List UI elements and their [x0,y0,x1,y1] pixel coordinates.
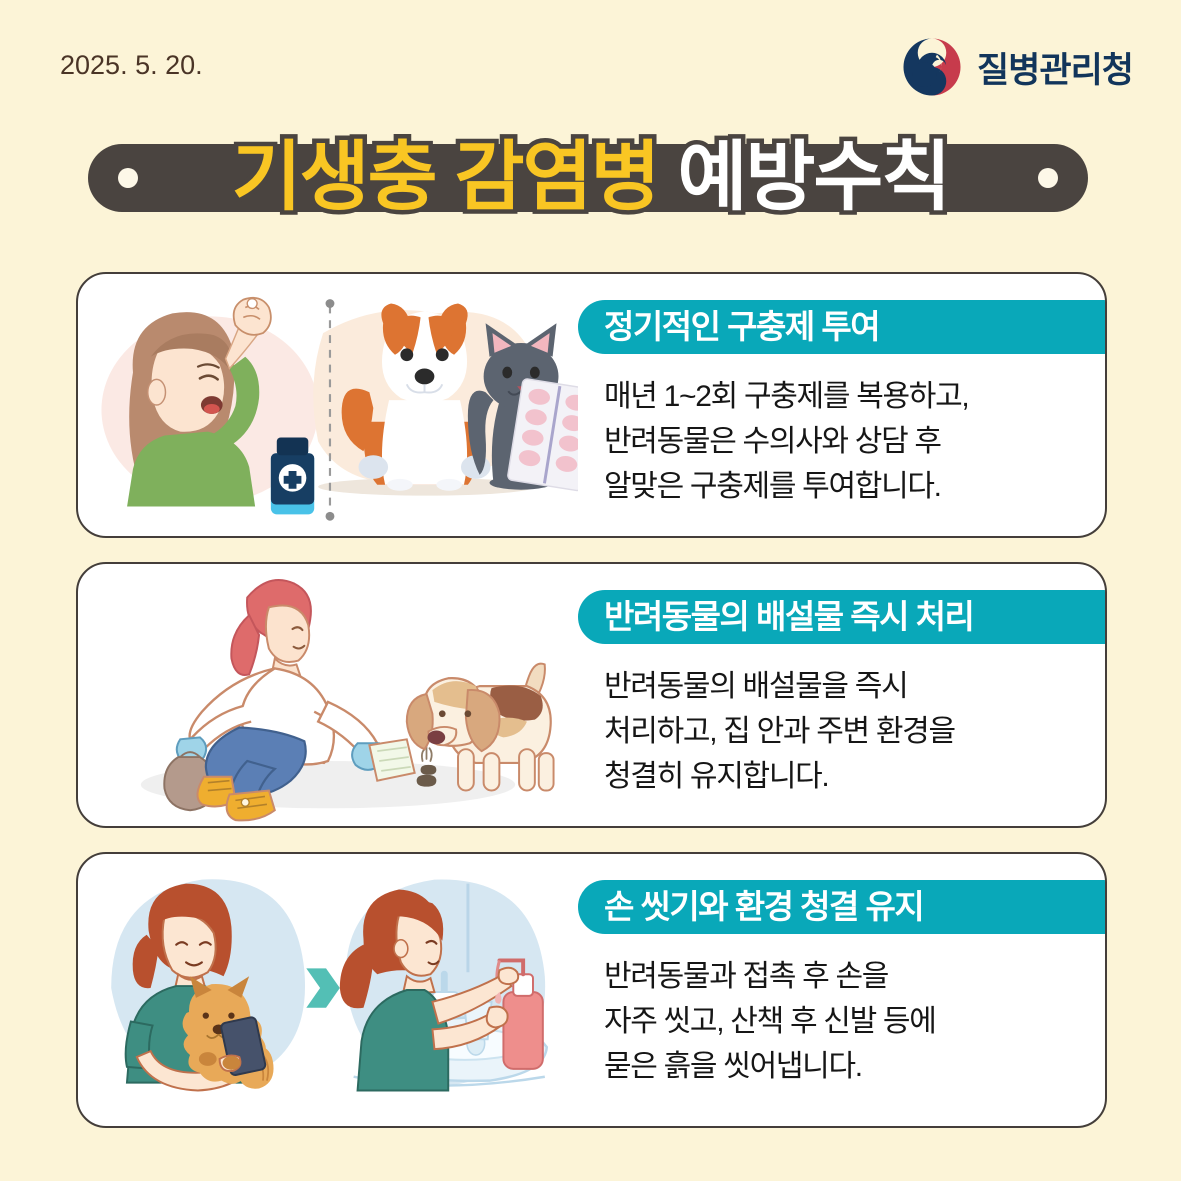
taegeuk-logo-icon [901,36,963,98]
tip-card-1-heading-slot: 정기적인 구충제 투여 [578,300,1105,354]
tip-card-2-heading: 반려동물의 배설물 즉시 처리 [578,590,1105,644]
tip-card-2: 반려동물의 배설물 즉시 처리 반려동물의 배설물을 즉시 처리하고, 집 안과… [76,562,1107,828]
tip-card-1: 정기적인 구충제 투여 매년 1~2회 구충제를 복용하고, 반려동물은 수의사… [76,272,1107,538]
page-title: 기생충 감염병 예방수칙 [0,128,1181,228]
page-title-highlight: 기생충 감염병 [232,135,659,220]
publish-date: 2025. 5. 20. [60,50,203,81]
tip-card-2-heading-slot: 반려동물의 배설물 즉시 처리 [578,590,1105,644]
agency-name: 질병관리청 [977,42,1133,93]
tip-card-3: 손 씻기와 환경 청결 유지 반려동물과 접촉 후 손을 자주 씻고, 산책 후… [76,852,1107,1128]
woman-cleaning-pet-waste-illustration [78,564,578,826]
page-header: 2025. 5. 20. 질병관리청 [0,0,1181,115]
tip-card-3-heading: 손 씻기와 환경 청결 유지 [578,880,1105,934]
tip-card-1-heading: 정기적인 구충제 투여 [578,300,1105,354]
tip-card-3-text: 반려동물과 접촉 후 손을 자주 씻고, 산책 후 신발 등에 묻은 흙을 씻어… [578,954,1105,1089]
tip-card-3-body: 손 씻기와 환경 청결 유지 반려동물과 접촉 후 손을 자주 씻고, 산책 후… [578,854,1105,1126]
tip-card-1-body: 정기적인 구충제 투여 매년 1~2회 구충제를 복용하고, 반려동물은 수의사… [578,274,1105,536]
prevention-tips-list: 정기적인 구충제 투여 매년 1~2회 구충제를 복용하고, 반려동물은 수의사… [76,272,1107,1152]
agency-brand: 질병관리청 [901,36,1133,98]
woman-taking-pill-dog-cat-illustration [78,274,578,536]
page-title-rest: 예방수칙 [678,135,950,220]
tip-card-2-body: 반려동물의 배설물 즉시 처리 반려동물의 배설물을 즉시 처리하고, 집 안과… [578,564,1105,826]
woman-holding-dog-then-washing-hands-illustration [78,854,578,1126]
tip-card-2-text: 반려동물의 배설물을 즉시 처리하고, 집 안과 주변 환경을 청결히 유지합니… [578,664,1105,799]
tip-card-3-heading-slot: 손 씻기와 환경 청결 유지 [578,880,1105,934]
tip-card-1-text: 매년 1~2회 구충제를 복용하고, 반려동물은 수의사와 상담 후 알맞은 구… [578,374,1105,509]
title-banner: 기생충 감염병 예방수칙 [0,128,1181,228]
